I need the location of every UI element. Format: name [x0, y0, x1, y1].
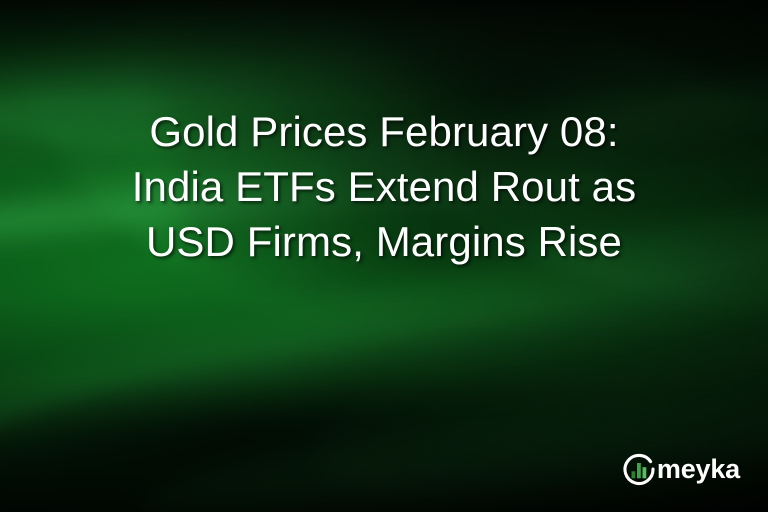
headline: Gold Prices February 08: India ETFs Exte… [0, 104, 768, 269]
headline-line-1: Gold Prices February 08: [48, 104, 720, 159]
headline-line-3: USD Firms, Margins Rise [48, 214, 720, 269]
logo-wordmark: meyka [657, 456, 740, 483]
light-streak [135, 344, 768, 512]
meyka-circle-bars-icon [622, 452, 656, 486]
headline-line-2: India ETFs Extend Rout as [48, 159, 720, 214]
meyka-logo: meyka [622, 452, 740, 486]
social-card: Gold Prices February 08: India ETFs Exte… [0, 0, 768, 512]
